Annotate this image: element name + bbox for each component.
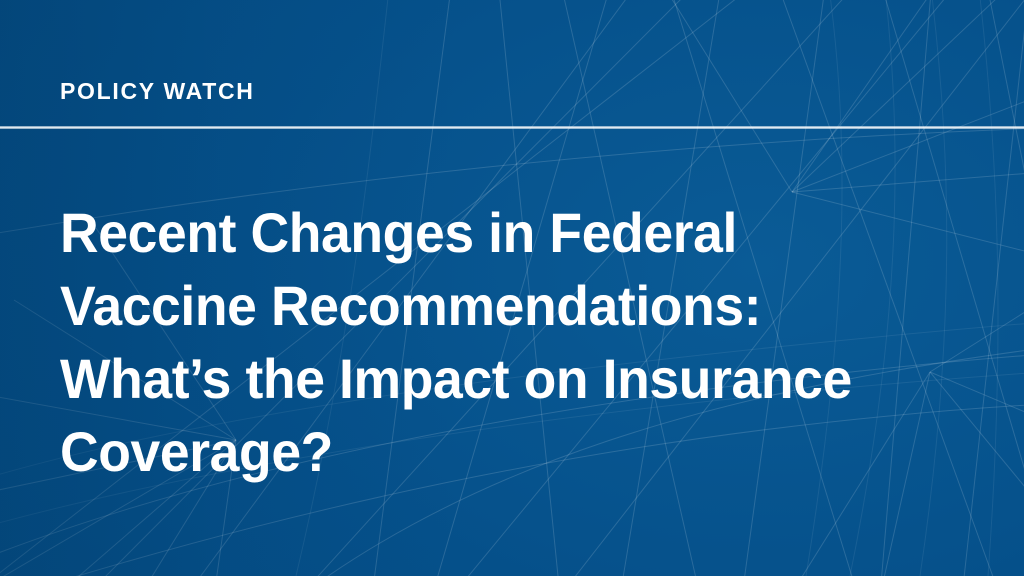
page-title-line-3: What’s the Impact on Insurance	[60, 342, 920, 415]
page-title-line-2: Vaccine Recommendations:	[60, 269, 920, 342]
card-content: POLICY WATCH Recent Changes in Federal V…	[0, 0, 1024, 576]
page-title-line-4: Coverage?	[60, 415, 920, 488]
page-title-line-1: Recent Changes in Federal	[60, 196, 920, 269]
policy-watch-card: POLICY WATCH Recent Changes in Federal V…	[0, 0, 1024, 576]
header-divider	[0, 126, 1024, 129]
page-title: Recent Changes in Federal Vaccine Recomm…	[60, 196, 920, 488]
kicker-label: POLICY WATCH	[60, 78, 255, 104]
